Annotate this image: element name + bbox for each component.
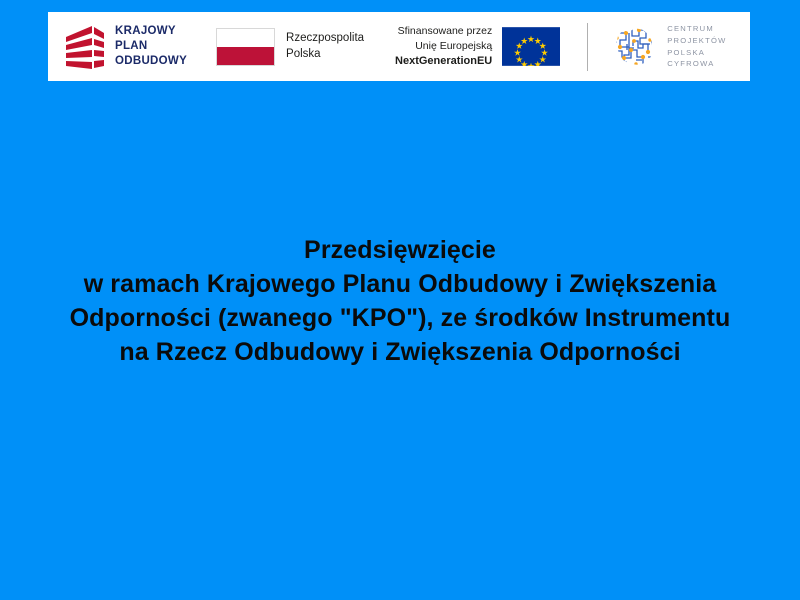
republic-of-poland-line2: Polska (286, 47, 364, 63)
page-title-line-3: Odporności (zwanego "KPO"), ze środków I… (0, 301, 800, 335)
poland-flag-red-stripe (217, 47, 274, 65)
eu-funding-label: Sfinansowane przez Unię Europejską NextG… (395, 24, 492, 69)
eu-funding-line3: NextGenerationEU (395, 54, 492, 70)
page-title-line-1: Przedsięwzięcie (0, 233, 800, 267)
kpo-wordmark-line1: KRAJOWY (115, 24, 187, 39)
kpo-wordmark-line2: PLAN (115, 39, 187, 54)
republic-of-poland-line1: Rzeczpospolita (286, 31, 364, 47)
kpo-wordmark-line3: ODBUDOWY (115, 54, 187, 69)
kpo-wordmark: KRAJOWY PLAN ODBUDOWY (115, 24, 187, 70)
page-title-line-2: w ramach Krajowego Planu Odbudowy i Zwię… (0, 267, 800, 301)
cppc-wordmark: CENTRUM PROJEKTÓW POLSKA CYFROWA (667, 23, 726, 70)
kpo-building-mark-icon (64, 24, 106, 70)
eu-funding-line2: Unię Europejską (395, 39, 492, 54)
cppc-wordmark-line4: CYFROWA (667, 58, 726, 70)
eu-funding-line1: Sfinansowane przez (395, 24, 492, 39)
cppc-wordmark-line1: CENTRUM (667, 23, 726, 35)
logo-banner: KRAJOWY PLAN ODBUDOWY Rzeczpospolita Pol… (48, 12, 750, 81)
cppc-logo: CENTRUM PROJEKTÓW POLSKA CYFROWA (612, 12, 726, 81)
page-title-line-4: na Rzecz Odbudowy i Zwiększenia Odpornoś… (0, 335, 800, 369)
poland-flag-icon (216, 28, 275, 66)
poland-flag-white-stripe (217, 29, 274, 47)
cppc-wordmark-line2: PROJEKTÓW (667, 35, 726, 47)
republic-of-poland-label: Rzeczpospolita Polska (286, 31, 364, 63)
page-title: Przedsięwzięcie w ramach Krajowego Planu… (0, 233, 800, 369)
republic-of-poland-logo: Rzeczpospolita Polska (216, 12, 364, 81)
cppc-wordmark-line3: POLSKA (667, 47, 726, 59)
poland-circuit-map-icon (612, 24, 656, 69)
kpo-logo: KRAJOWY PLAN ODBUDOWY (48, 12, 187, 81)
eu-funding-logo: Sfinansowane przez Unię Europejską NextG… (395, 12, 560, 81)
banner-divider (587, 23, 588, 71)
european-union-flag-icon (502, 27, 560, 66)
